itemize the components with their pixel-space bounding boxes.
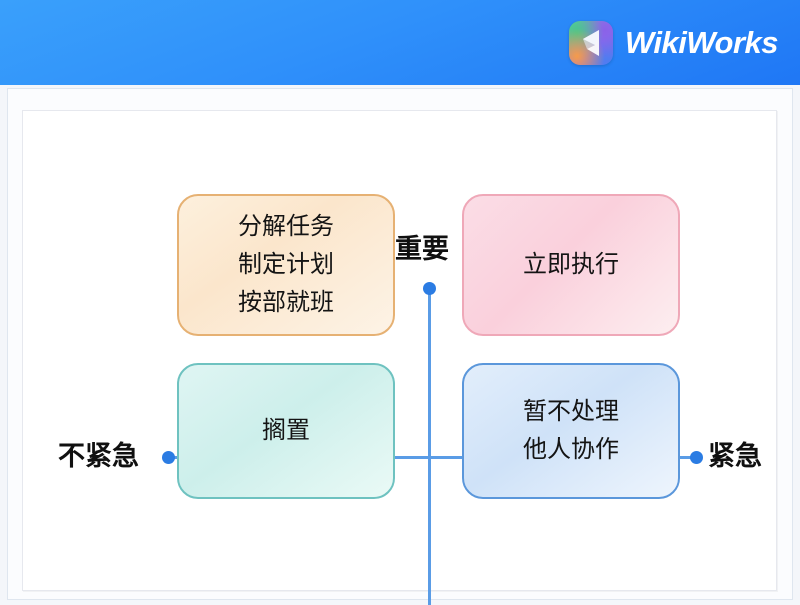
app-root: WikiWorks 重要 不重要 不紧急 紧急 分解任务 制定计划 按部就班 立…: [0, 0, 800, 605]
quadrant-important-urgent[interactable]: 立即执行: [462, 194, 680, 336]
quadrant-line: 立即执行: [523, 253, 619, 277]
axis-label-urgent: 紧急: [708, 443, 762, 470]
quadrant-line: 按部就班: [238, 291, 334, 315]
app-header: WikiWorks: [0, 0, 800, 85]
vertical-axis-line: [428, 288, 431, 605]
axis-label-important: 重要: [395, 236, 449, 263]
axis-label-not-urgent: 不紧急: [58, 443, 139, 470]
wikiworks-logo-icon: [569, 21, 613, 65]
quadrant-important-not-urgent[interactable]: 分解任务 制定计划 按部就班: [177, 194, 395, 336]
quadrant-not-important-urgent[interactable]: 暂不处理 他人协作: [462, 363, 680, 499]
axis-endpoint-dot-right: [690, 451, 703, 464]
quadrant-line: 搁置: [262, 419, 310, 443]
axis-endpoint-dot-top: [423, 282, 436, 295]
quadrant-line: 制定计划: [238, 253, 334, 277]
quadrant-line: 分解任务: [238, 215, 334, 239]
quadrant-not-important-not-urgent[interactable]: 搁置: [177, 363, 395, 499]
axis-endpoint-dot-left: [162, 451, 175, 464]
brand-name: WikiWorks: [625, 27, 778, 58]
quadrant-line: 他人协作: [523, 438, 619, 462]
eisenhower-matrix: 重要 不重要 不紧急 紧急 分解任务 制定计划 按部就班 立即执行 搁置 暂不处…: [22, 110, 777, 591]
brand[interactable]: WikiWorks: [569, 21, 778, 65]
quadrant-line: 暂不处理: [523, 400, 619, 424]
